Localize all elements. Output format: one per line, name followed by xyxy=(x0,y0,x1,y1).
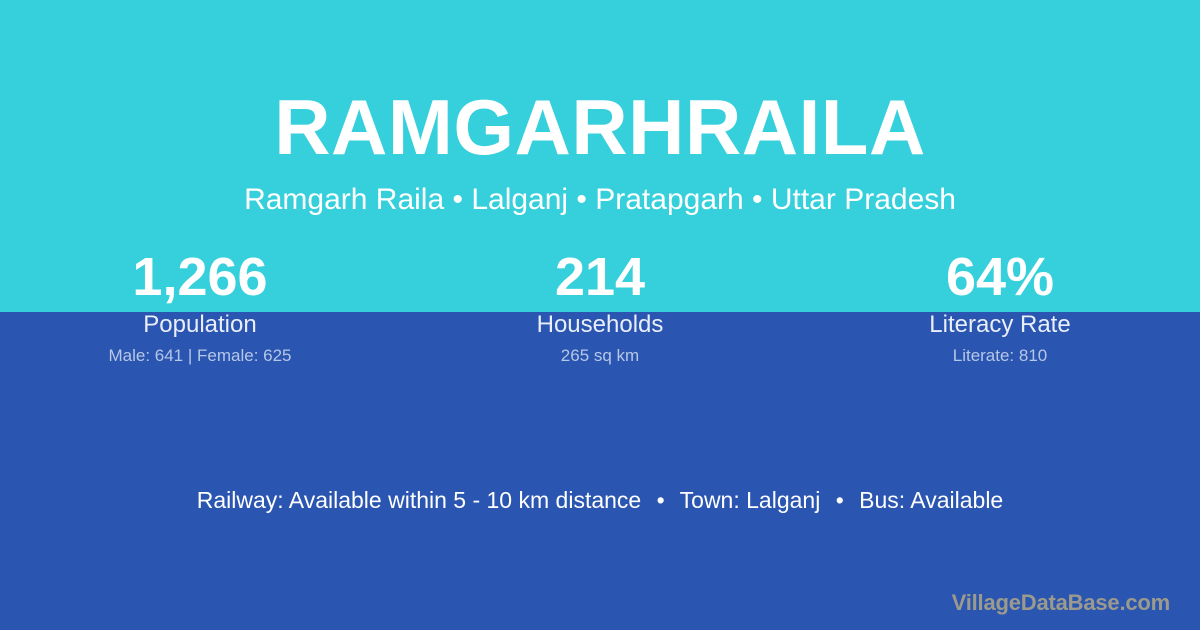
stat-households: 214 Households 265 sq km xyxy=(400,246,800,370)
stat-population-value: 1,266 xyxy=(0,246,400,308)
stats-row: 1,266 Population Male: 641 | Female: 625… xyxy=(0,246,1200,370)
stat-households-value: 214 xyxy=(400,246,800,308)
stat-literacy-rate-value: 64% xyxy=(800,246,1200,308)
stat-households-label: Households xyxy=(400,308,800,342)
amenity-town: Town: Lalganj xyxy=(680,487,821,513)
stat-population-label: Population xyxy=(0,308,400,342)
amenity-separator-2: • xyxy=(827,484,853,516)
stat-households-subtext: 265 sq km xyxy=(400,342,800,370)
stat-population-subtext: Male: 641 | Female: 625 xyxy=(0,342,400,370)
amenities-line: Railway: Available within 5 - 10 km dist… xyxy=(0,484,1200,516)
page-title: RAMGARHRAILA xyxy=(0,88,1200,166)
amenity-separator-1: • xyxy=(648,484,674,516)
amenity-railway: Railway: Available within 5 - 10 km dist… xyxy=(197,487,641,513)
village-info-card: RAMGARHRAILA Ramgarh Raila • Lalganj • P… xyxy=(0,0,1200,630)
amenity-bus: Bus: Available xyxy=(859,487,1003,513)
breadcrumb: Ramgarh Raila • Lalganj • Pratapgarh • U… xyxy=(0,182,1200,218)
stat-literacy-rate: 64% Literacy Rate Literate: 810 xyxy=(800,246,1200,370)
stat-literacy-rate-label: Literacy Rate xyxy=(800,308,1200,342)
stat-literacy-rate-subtext: Literate: 810 xyxy=(800,342,1200,370)
site-brand-watermark: VillageDataBase.com xyxy=(952,588,1170,618)
stat-population: 1,266 Population Male: 641 | Female: 625 xyxy=(0,246,400,370)
